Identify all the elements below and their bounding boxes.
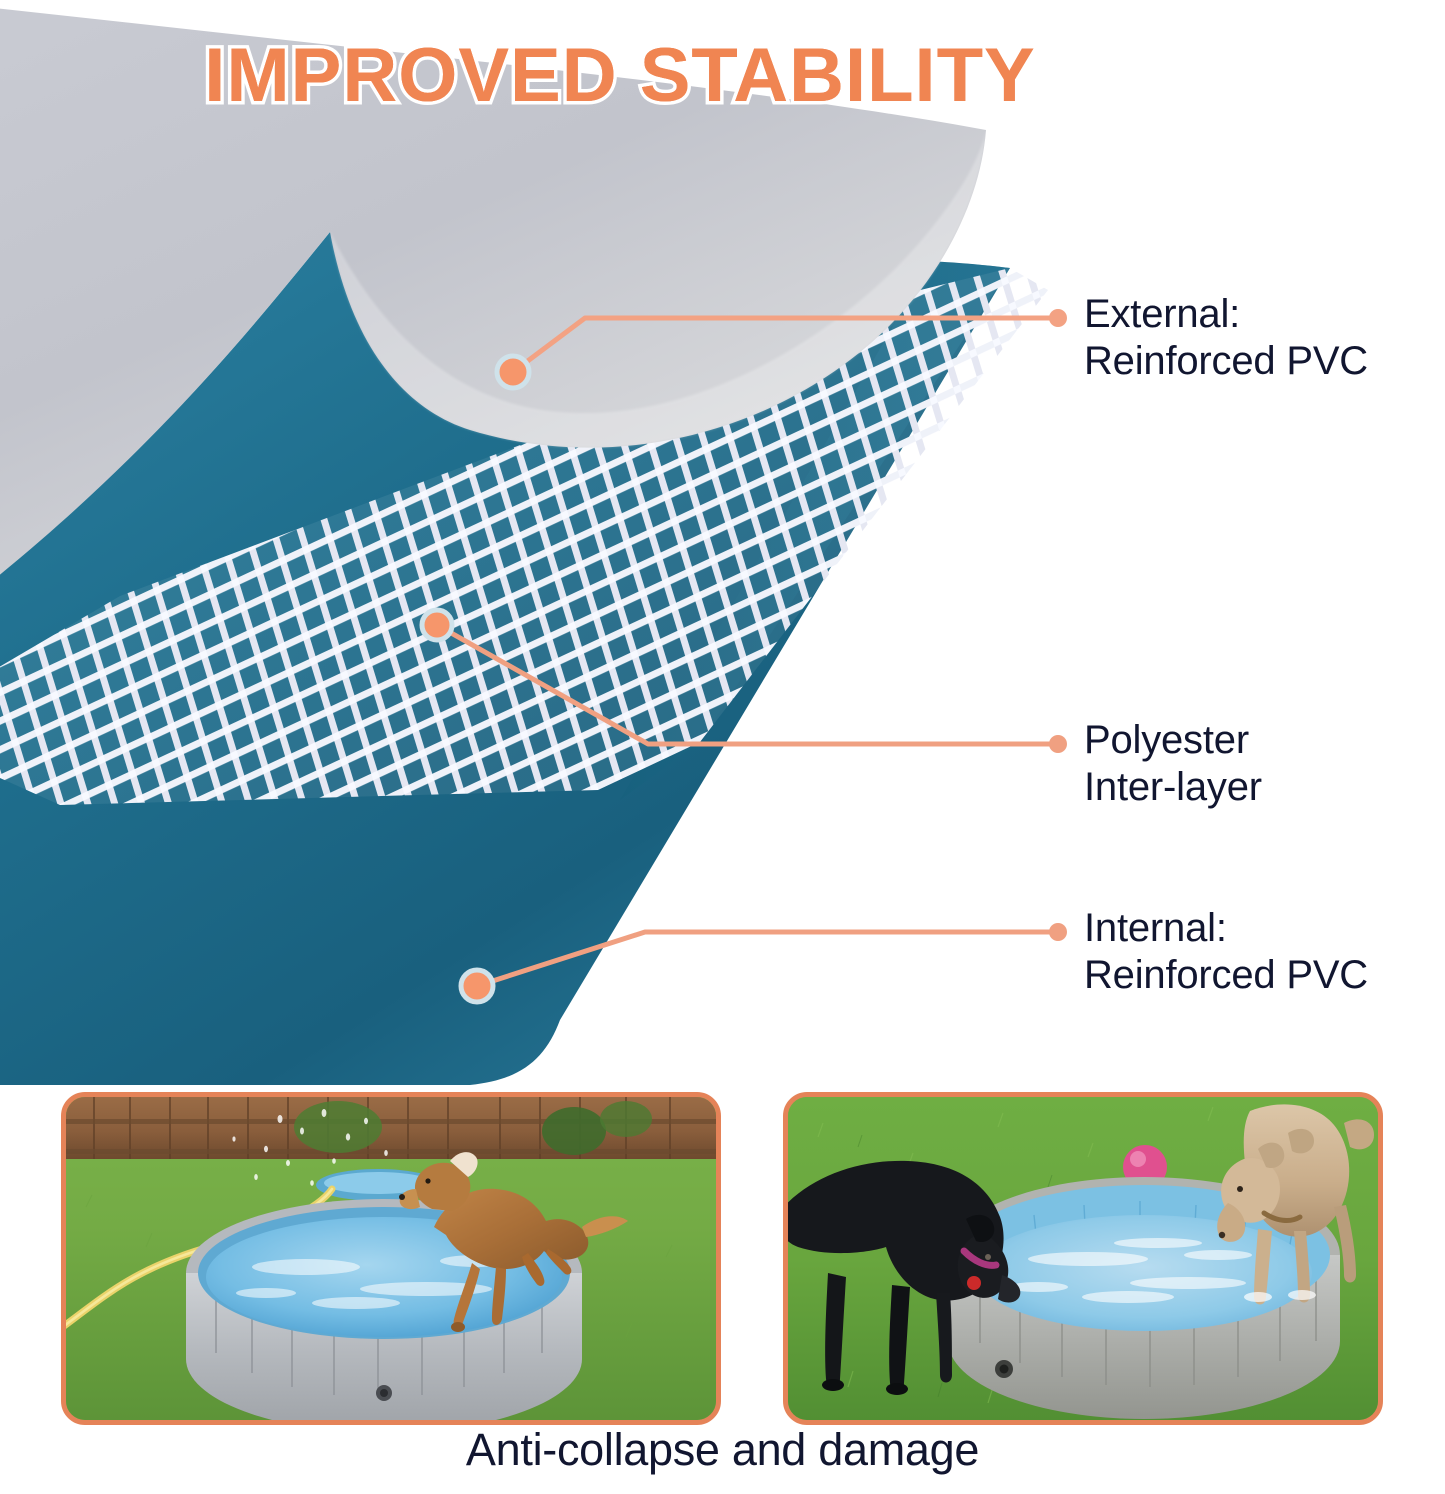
layer-marker-external: [497, 356, 529, 388]
photos-caption: Anti-collapse and damage: [0, 1424, 1445, 1476]
callout-label-internal: Internal: Reinforced PVC: [1084, 905, 1368, 999]
two-dogs-in-pool-photo: [783, 1092, 1383, 1425]
photo-right-content: [788, 1097, 1378, 1420]
layer-marker-internal: [461, 970, 493, 1002]
layer-marker-polyester: [422, 610, 452, 640]
material-cutaway-diagram: IMPROVED STABILITY IMPROVED STABILITY Ex…: [0, 0, 1445, 1085]
photo-left-content: [66, 1097, 716, 1420]
callout-label-polyester: Polyester Inter-layer: [1084, 717, 1262, 811]
page-title: IMPROVED STABILITY: [0, 38, 1240, 114]
callout-label-external: External: Reinforced PVC: [1084, 291, 1368, 385]
infographic-page: IMPROVED STABILITY IMPROVED STABILITY Ex…: [0, 0, 1445, 1494]
dog-jumping-into-pool-photo: [61, 1092, 721, 1425]
